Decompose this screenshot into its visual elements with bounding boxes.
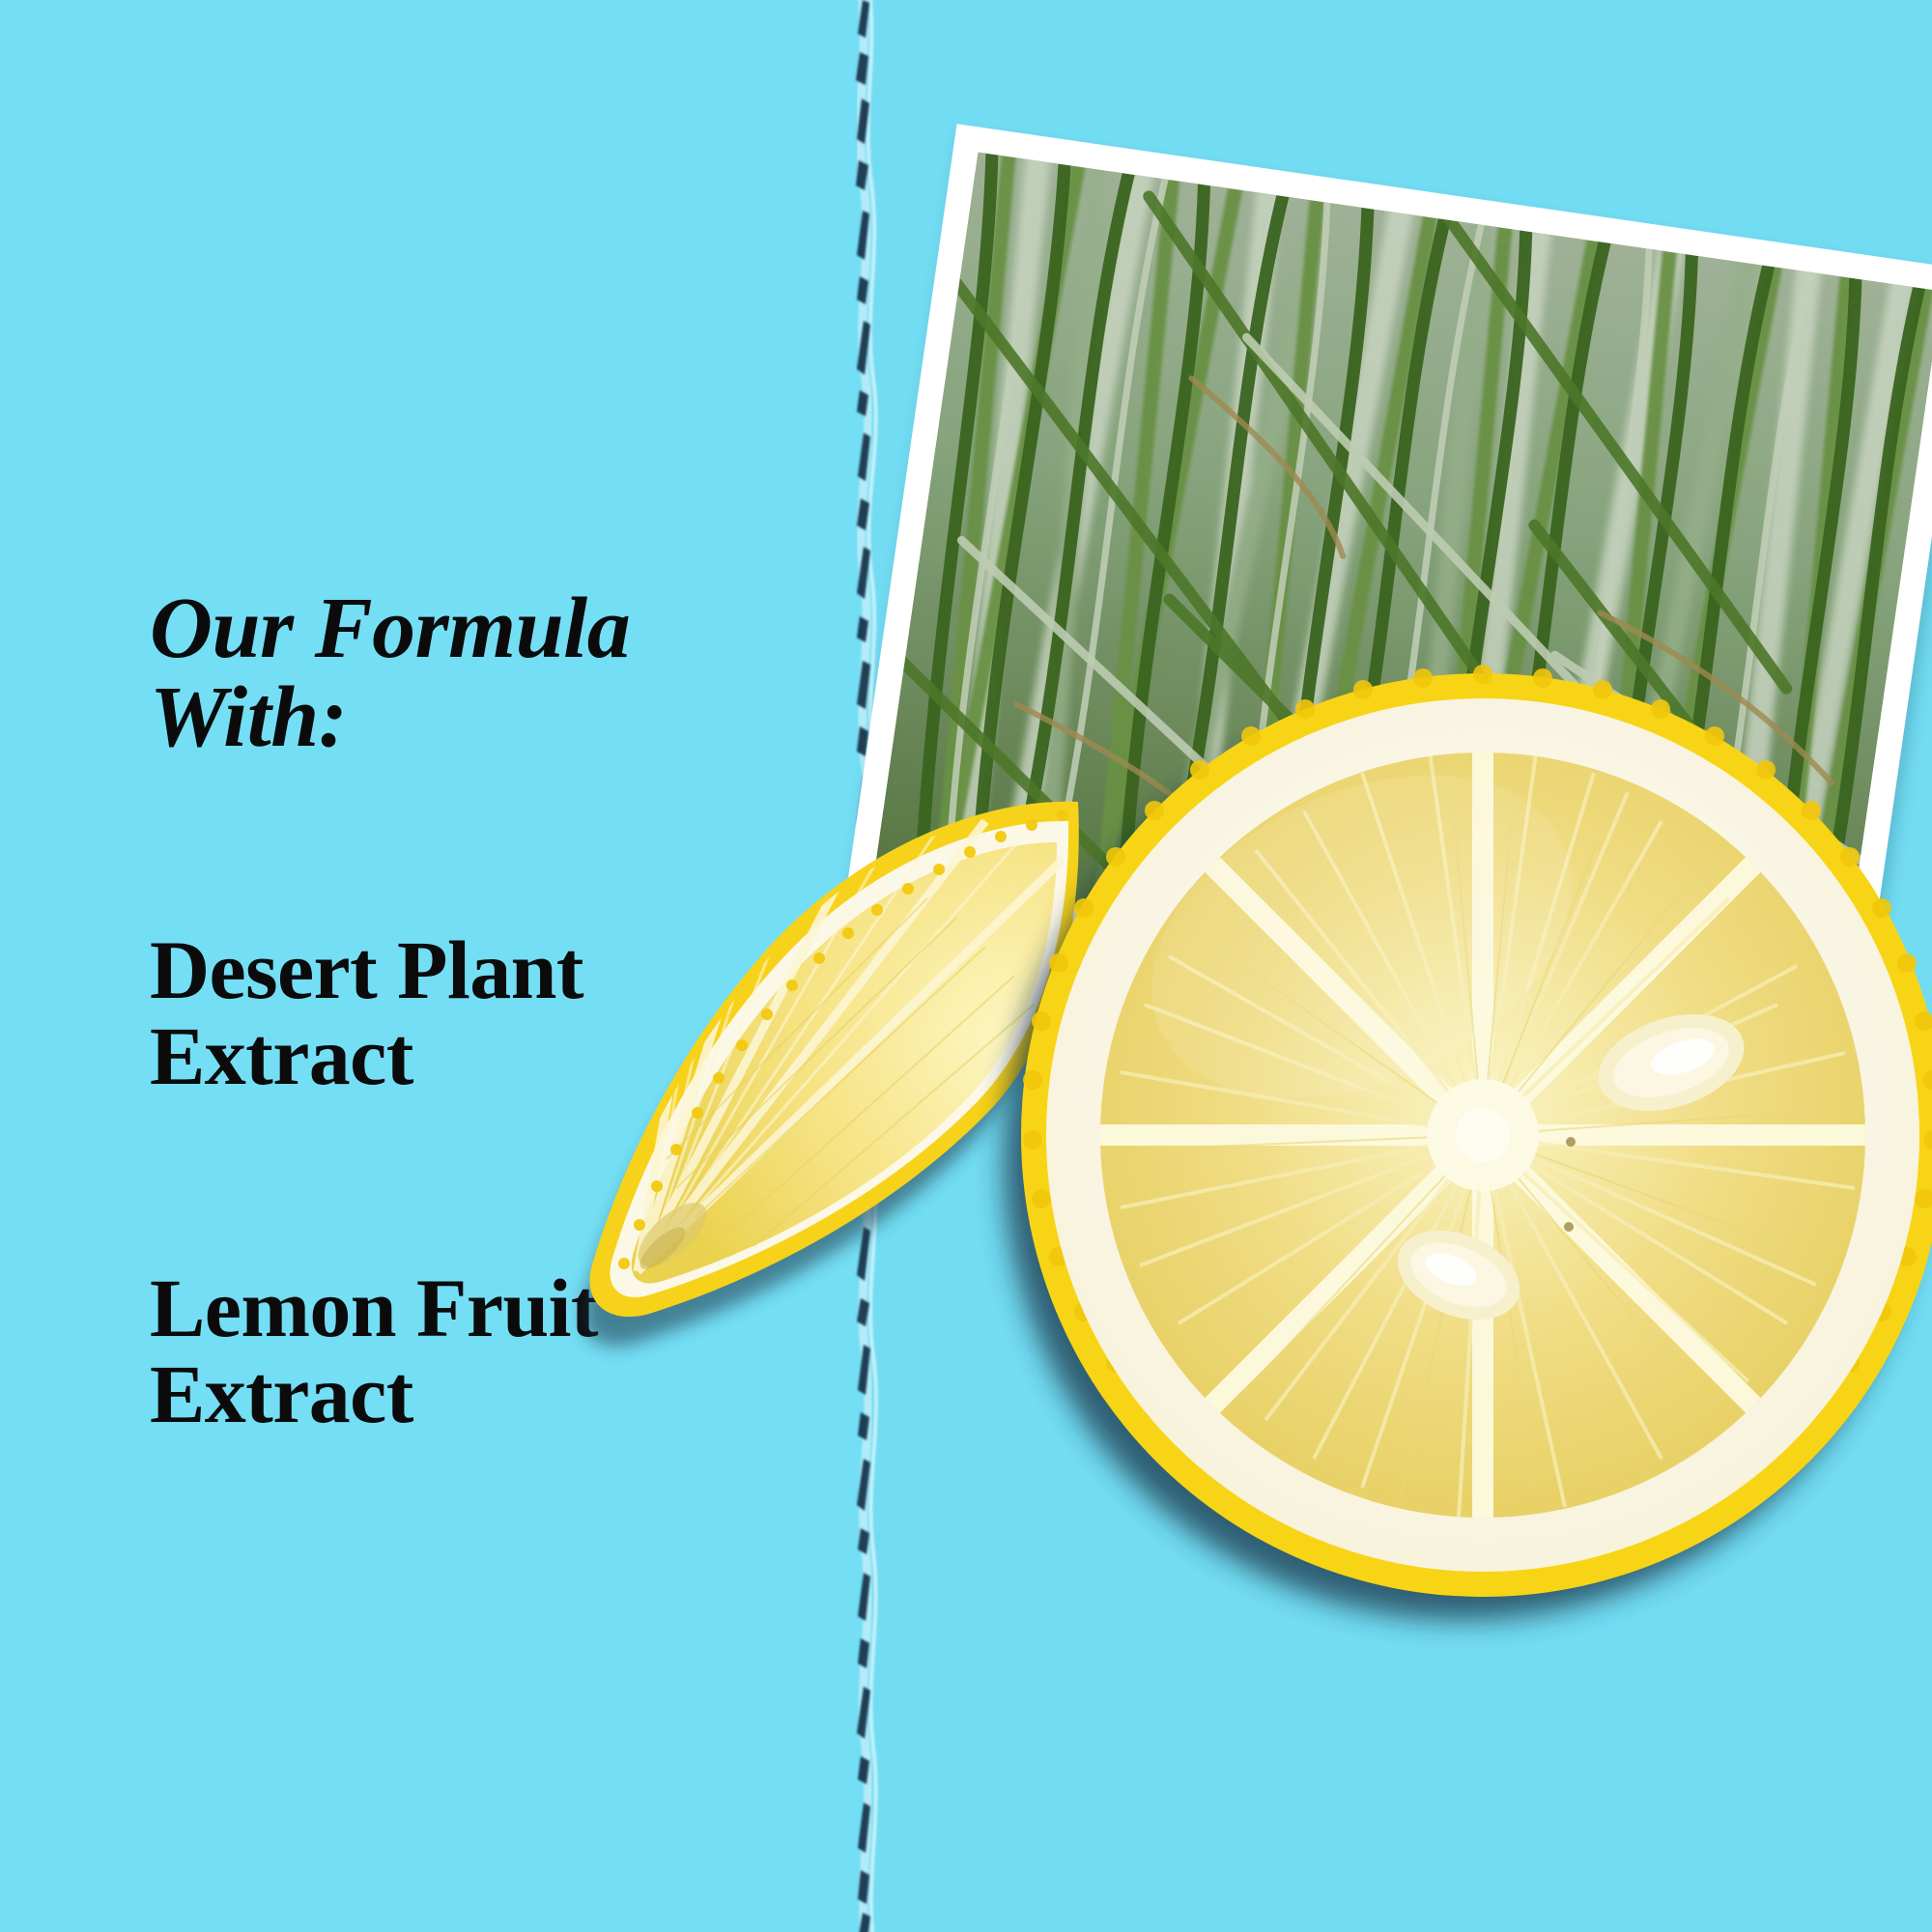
lemon-slice xyxy=(995,647,1932,1623)
headline-line-1: Our Formula xyxy=(150,581,630,676)
headline-line-2: With: xyxy=(150,673,787,762)
ingredient-2-line-1: Lemon Fruit xyxy=(150,1262,598,1354)
poster-canvas: Our Formula With: Desert Plant Extract L… xyxy=(0,0,1932,1932)
page-title: Our Formula With: xyxy=(150,584,787,762)
ingredient-1-line-1: Desert Plant xyxy=(150,923,583,1016)
ingredient-2-line-2: Extract xyxy=(150,1351,807,1437)
